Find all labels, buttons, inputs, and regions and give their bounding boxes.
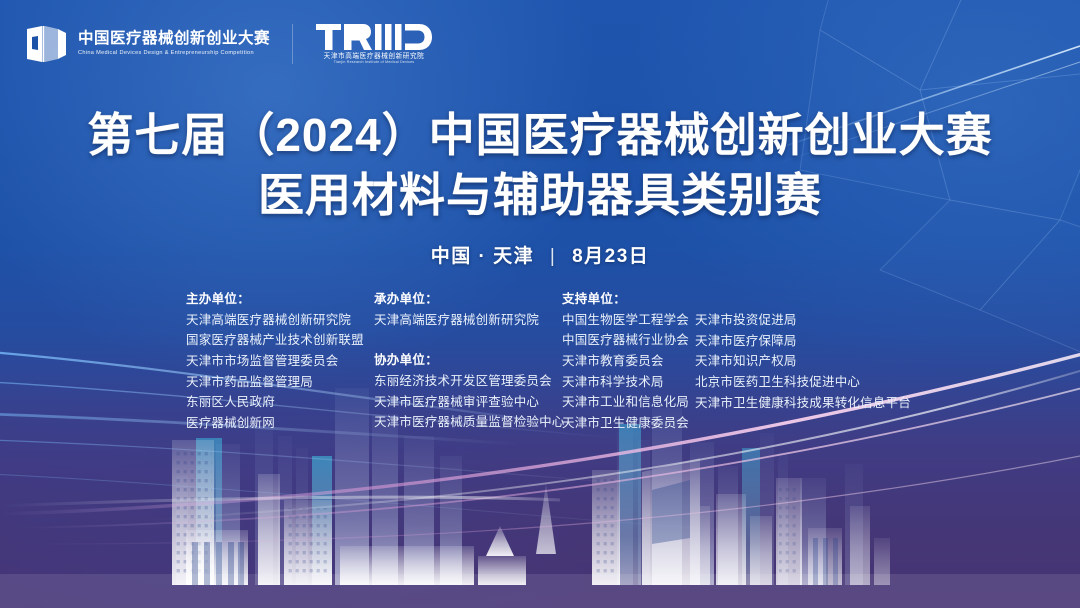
- event-date: 8月23日: [572, 246, 649, 267]
- cmdc-logo: 中国医疗器械创新创业大赛 China Medical Devices Desig…: [24, 23, 270, 65]
- org-item: 天津市医疗器械审评查验中心: [374, 392, 562, 413]
- cmdc-logo-en: China Medical Devices Design & Entrepren…: [78, 50, 270, 56]
- org-item: 中国生物医学工程学会: [562, 310, 695, 331]
- trimd-logo-en: Tianjin Research Institute of Medical De…: [334, 61, 415, 65]
- banner-header: 中国医疗器械创新创业大赛 China Medical Devices Desig…: [24, 22, 433, 65]
- trimd-logo-cn: 天津市高端医疗器械创新研究院: [324, 53, 425, 60]
- org-item: 北京市医药卫生科技促进中心: [695, 372, 905, 393]
- trimd-wordmark-icon: [315, 22, 433, 52]
- org-item: 天津市药品监督管理局: [186, 372, 374, 393]
- title-block: 第七届（2024）中国医疗器械创新创业大赛 医用材料与辅助器具类别赛 中国 · …: [0, 108, 1080, 268]
- org-item: 东丽区人民政府: [186, 392, 374, 413]
- org-item: 中国医疗器械行业协会: [562, 330, 695, 351]
- cmdc-logo-text: 中国医疗器械创新创业大赛 China Medical Devices Desig…: [78, 31, 270, 55]
- organizations-block: 主办单位： 天津高端医疗器械创新研究院 国家医疗器械产业技术创新联盟 天津市市场…: [186, 289, 905, 433]
- org-item: 天津高端医疗器械创新研究院: [374, 310, 562, 331]
- event-subtitle: 中国 · 天津 | 8月23日: [0, 241, 1080, 268]
- org-item: 天津市教育委员会: [562, 351, 695, 372]
- org-column-supporter-b: 天津市投资促进局 天津市医疗保障局 天津市知识产权局 北京市医药卫生科技促进中心…: [695, 289, 905, 413]
- org-heading-supporter: 支持单位：: [562, 289, 695, 310]
- org-item: 天津市科学技术局: [562, 372, 695, 393]
- event-location: 中国 · 天津: [431, 246, 534, 267]
- org-item: 天津市医疗保障局: [695, 331, 905, 352]
- org-item: 天津市市场监督管理委员会: [186, 351, 374, 372]
- main-title-line2: 医用材料与辅助器具类别赛: [0, 168, 1080, 222]
- org-heading-host: 主办单位：: [186, 289, 374, 310]
- trimd-logo: 天津市高端医疗器械创新研究院 Tianjin Research Institut…: [315, 22, 433, 65]
- org-item: 国家医疗器械产业技术创新联盟: [186, 330, 374, 351]
- subtitle-separator: |: [550, 246, 556, 268]
- org-column-organizer: 承办单位： 天津高端医疗器械创新研究院 协办单位： 东丽经济技术开发区管理委员会…: [374, 289, 562, 433]
- main-title-line1: 第七届（2024）中国医疗器械创新创业大赛: [0, 108, 1080, 162]
- header-divider: [292, 24, 293, 64]
- org-item: 天津高端医疗器械创新研究院: [186, 310, 374, 331]
- org-heading-coorganizer: 协办单位：: [374, 350, 562, 371]
- org-column-host: 主办单位： 天津高端医疗器械创新研究院 国家医疗器械产业技术创新联盟 天津市市场…: [186, 289, 374, 433]
- org-item: 天津市工业和信息化局: [562, 392, 695, 413]
- org-item: 天津市卫生健康科技成果转化信息平台: [695, 393, 905, 414]
- conference-banner: 中国医疗器械创新创业大赛 China Medical Devices Desig…: [0, 0, 1080, 608]
- cmdc-logo-cn: 中国医疗器械创新创业大赛: [78, 31, 270, 47]
- org-item: 天津市医疗器械质量监督检验中心: [374, 412, 562, 433]
- org-item: 医疗器械创新网: [186, 413, 374, 434]
- open-door-icon: [24, 23, 68, 65]
- org-item: 东丽经济技术开发区管理委员会: [374, 371, 562, 392]
- org-item: 天津市卫生健康委员会: [562, 413, 695, 434]
- org-item: 天津市知识产权局: [695, 351, 905, 372]
- org-item: 天津市投资促进局: [695, 310, 905, 331]
- org-heading-organizer: 承办单位：: [374, 289, 562, 310]
- org-spacer: [374, 330, 562, 350]
- org-column-supporter-a: 支持单位： 中国生物医学工程学会 中国医疗器械行业协会 天津市教育委员会 天津市…: [562, 289, 695, 433]
